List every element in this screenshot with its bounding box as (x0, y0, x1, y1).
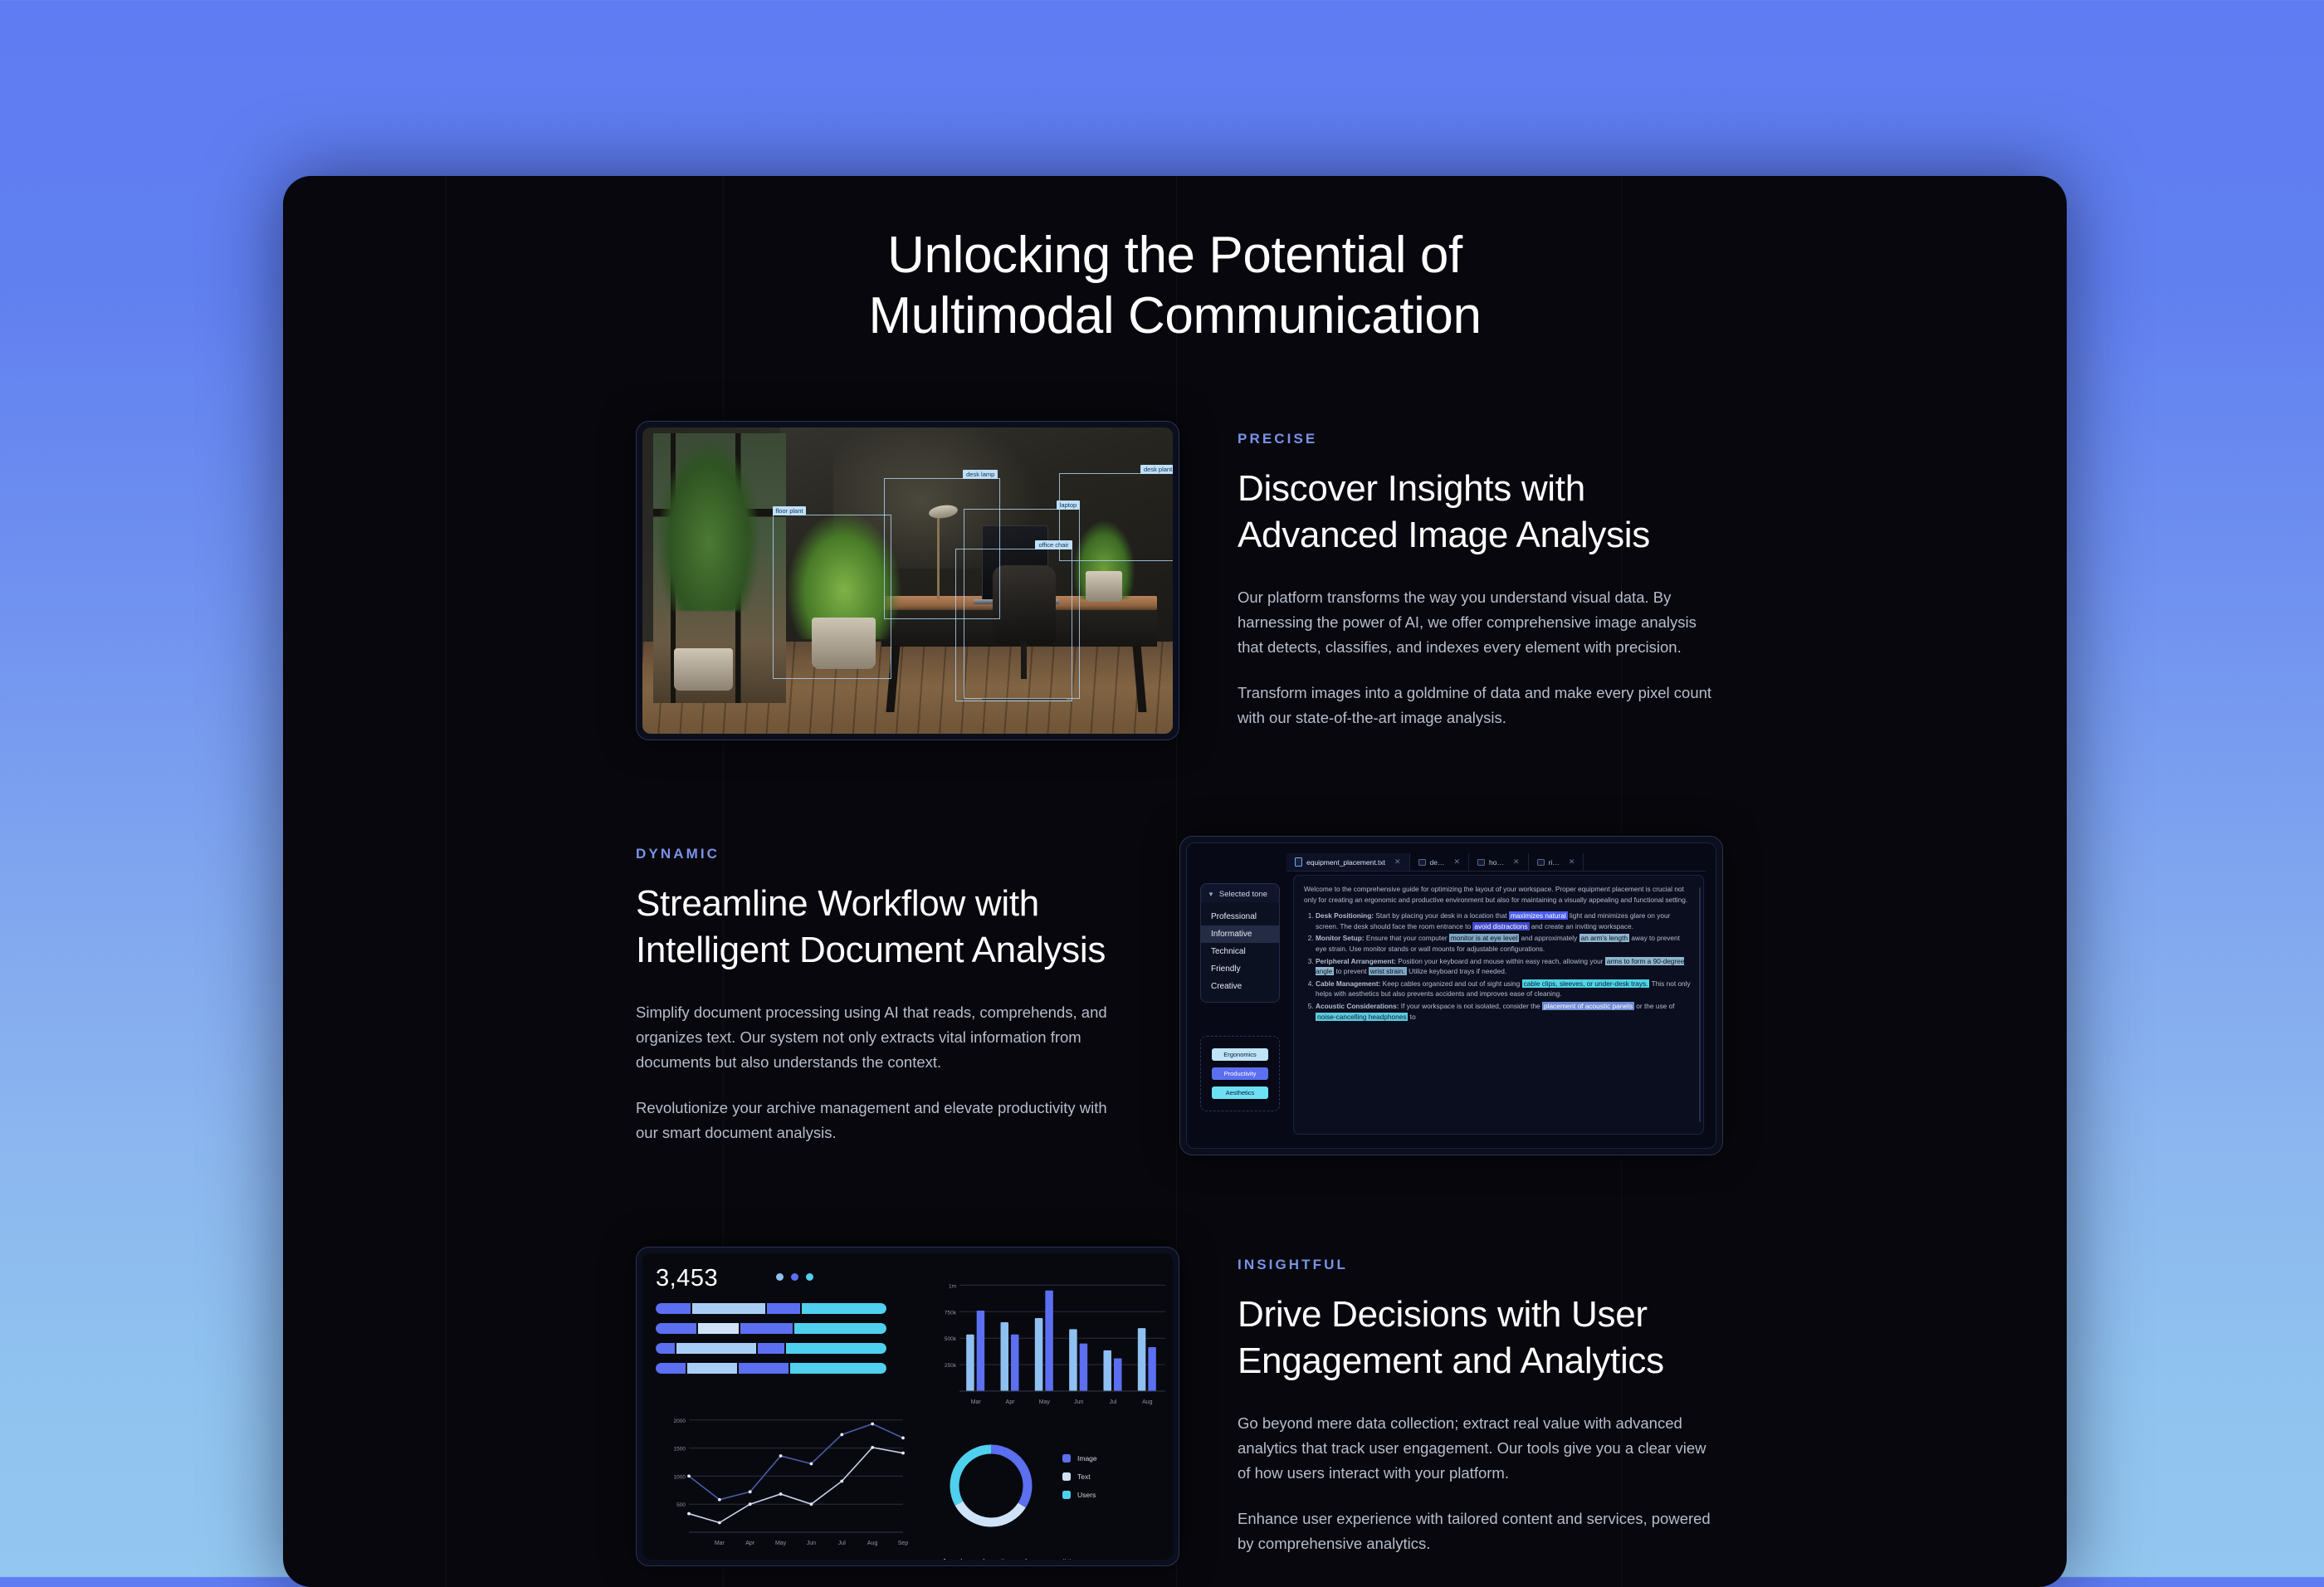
segmented-bar-row (656, 1343, 886, 1354)
legend-item-image: Image (1062, 1454, 1097, 1462)
svg-text:Sep: Sep (898, 1541, 909, 1546)
svg-text:Apr: Apr (745, 1541, 755, 1546)
feature-copy-analytics: INSIGHTFUL Drive Decisions with User Eng… (1238, 1257, 1723, 1556)
svg-text:May: May (1039, 1399, 1051, 1405)
svg-text:Jul: Jul (838, 1541, 846, 1546)
highlight: maximizes natural (1509, 911, 1568, 920)
chevron-down-icon: ▼ (1208, 891, 1214, 898)
page-title-line-1: Unlocking the Potential of (887, 227, 1462, 284)
svg-text:500k: 500k (945, 1336, 957, 1342)
paragraph-1: Go beyond mere data collection; extract … (1238, 1411, 1723, 1486)
item-title: Acoustic Considerations: (1316, 1002, 1399, 1010)
donut-chart: Image Text Users (938, 1431, 1170, 1560)
range-filter-group: 1 week 1 month 1year all time (943, 1558, 1081, 1560)
content-panel: Unlocking the Potential of Multimodal Co… (283, 176, 2067, 1587)
segmented-bar-row (656, 1323, 886, 1334)
bounding-box-floor-plant[interactable]: floor plant (773, 515, 892, 678)
svg-text:Jul: Jul (1110, 1399, 1117, 1405)
svg-text:500: 500 (676, 1502, 686, 1508)
bbox-label-desk-plant: desk plant (1140, 465, 1173, 474)
donut-legend: Image Text Users (1062, 1454, 1097, 1509)
close-icon[interactable]: ✕ (1513, 857, 1520, 867)
bounding-box-office-chair[interactable]: office chair (955, 549, 1072, 702)
scrollbar[interactable] (1699, 887, 1701, 1122)
page-title: Unlocking the Potential of Multimodal Co… (283, 226, 2067, 346)
image-icon (1477, 859, 1485, 866)
range-1-year[interactable]: 1year (1024, 1558, 1041, 1560)
bbox-label-desk-lamp: desk lamp (963, 470, 998, 479)
analytics-dashboard-preview[interactable]: 3,453 (636, 1247, 1179, 1566)
heading-line-2: Advanced Image Analysis (1238, 515, 1650, 555)
heading-line-1: Streamline Workflow with (636, 883, 1039, 924)
list-item: Cable Management: Keep cables organized … (1316, 979, 1692, 999)
close-icon[interactable]: ✕ (1454, 857, 1461, 867)
tone-option-list: Professional Informative Technical Frien… (1200, 902, 1280, 1003)
line-chart-svg: 500100015002000 MarAprMayJunJulAugSep (661, 1406, 910, 1560)
page-title-line-2: Multimodal Communication (868, 287, 1481, 344)
highlight: cable clips, sleeves, or under-desk tray… (1522, 979, 1650, 988)
document-intro: Welcome to the comprehensive guide for o… (1304, 884, 1692, 905)
range-all-time[interactable]: all time (1059, 1558, 1080, 1560)
legend-swatch (1062, 1472, 1071, 1481)
item-title: Monitor Setup: (1316, 934, 1365, 942)
svg-text:2000: 2000 (674, 1419, 686, 1424)
document-text-area[interactable]: Welcome to the comprehensive guide for o… (1293, 875, 1704, 1135)
document-editor-window: equipment_placement.txt ✕ de… ✕ ho… (1186, 842, 1716, 1149)
segmented-bar-list (656, 1303, 886, 1383)
eyebrow-dynamic: DYNAMIC (636, 846, 1121, 862)
svg-text:1000: 1000 (674, 1474, 686, 1480)
svg-text:250k: 250k (945, 1363, 957, 1369)
heading-line-2: Intelligent Document Analysis (636, 930, 1106, 970)
tab-label: equipment_placement.txt (1306, 858, 1385, 867)
heading-document-analysis: Streamline Workflow with Intelligent Doc… (636, 881, 1121, 974)
tab-label: ri… (1549, 858, 1560, 867)
svg-text:1500: 1500 (674, 1447, 686, 1453)
eyebrow-precise: PRECISE (1238, 431, 1723, 447)
paragraph-2: Enhance user experience with tailored co… (1238, 1506, 1723, 1556)
close-icon[interactable]: ✕ (1569, 857, 1575, 867)
legend-label: Users (1077, 1491, 1096, 1499)
paragraph-2: Revolutionize your archive management an… (636, 1096, 1121, 1145)
bbox-label-floor-plant: floor plant (773, 506, 807, 515)
donut-chart-svg (941, 1436, 1041, 1536)
editor-tab-bar: equipment_placement.txt ✕ de… ✕ ho… (1286, 853, 1706, 872)
svg-text:Mar: Mar (715, 1541, 725, 1546)
heading-image-analysis: Discover Insights with Advanced Image An… (1238, 466, 1723, 559)
highlight: an arm's length (1579, 934, 1629, 942)
bar-chart: 250k500k750k1m MarAprMayJunJulAug (930, 1268, 1169, 1418)
eyebrow-insightful: INSIGHTFUL (1238, 1257, 1723, 1273)
svg-text:Jun: Jun (807, 1541, 816, 1546)
heading-analytics: Drive Decisions with User Engagement and… (1238, 1292, 1723, 1385)
tag-ergonomics[interactable]: Ergonomics (1212, 1048, 1268, 1061)
tab-ho[interactable]: ho… ✕ (1469, 853, 1529, 871)
paragraph-1: Our platform transforms the way you unde… (1238, 585, 1723, 660)
close-icon[interactable]: ✕ (1394, 857, 1401, 867)
item-title: Desk Positioning: (1316, 911, 1374, 920)
legend-item-text: Text (1062, 1472, 1097, 1481)
item-title: Cable Management: (1316, 979, 1380, 988)
tag-productivity[interactable]: Productivity (1212, 1067, 1268, 1080)
legend-swatch (1062, 1454, 1071, 1462)
list-item: Monitor Setup: Ensure that your computer… (1316, 933, 1692, 954)
tab-label: de… (1430, 858, 1445, 867)
document-list: Desk Positioning: Start by placing your … (1316, 911, 1692, 1022)
tab-ri[interactable]: ri… ✕ (1529, 853, 1584, 871)
highlight: avoid distractions (1472, 922, 1529, 930)
paragraph-2: Transform images into a goldmine of data… (1238, 681, 1723, 730)
list-item: Acoustic Considerations: If your workspa… (1316, 1001, 1692, 1022)
feature-copy-document-analysis: DYNAMIC Streamline Workflow with Intelli… (636, 846, 1121, 1145)
feature-row-analytics: 3,453 (636, 1247, 1731, 1566)
svg-text:Mar: Mar (971, 1399, 982, 1405)
bbox-label-office-chair: office chair (1035, 540, 1072, 549)
svg-text:May: May (775, 1541, 787, 1546)
svg-text:750k: 750k (945, 1310, 957, 1316)
highlight: noise-cancelling headphones (1316, 1013, 1408, 1021)
svg-text:Aug: Aug (867, 1541, 878, 1546)
feature-copy-image-analysis: PRECISE Discover Insights with Advanced … (1238, 431, 1723, 730)
dot-3 (806, 1273, 813, 1281)
image-icon (1418, 859, 1426, 866)
file-icon (1295, 857, 1302, 867)
segmented-bar-row (656, 1303, 886, 1314)
tone-selector-label: Selected tone (1219, 890, 1267, 899)
status-dots (776, 1273, 813, 1281)
heading-line-1: Drive Decisions with User (1238, 1294, 1648, 1335)
heading-line-2: Engagement and Analytics (1238, 1340, 1664, 1381)
highlight: monitor is at eye level (1449, 934, 1519, 942)
analytics-dashboard: 3,453 (642, 1253, 1173, 1560)
list-item: Desk Positioning: Start by placing your … (1316, 911, 1692, 931)
highlight: wrist strain. (1369, 967, 1407, 975)
heading-line-1: Discover Insights with (1238, 468, 1585, 509)
item-title: Peripheral Arrangement: (1316, 957, 1396, 965)
bar-chart-svg: 250k500k750k1m MarAprMayJunJulAug (930, 1268, 1169, 1418)
bounding-box-desk-plant[interactable]: desk plant (1059, 473, 1173, 560)
legend-label: Image (1077, 1454, 1097, 1462)
tag-group: Ergonomics Productivity Aesthetics (1200, 1036, 1280, 1111)
svg-text:Jun: Jun (1074, 1399, 1083, 1405)
legend-swatch (1062, 1491, 1071, 1499)
svg-text:Apr: Apr (1006, 1399, 1016, 1405)
line-chart: 500100015002000 MarAprMayJunJulAugSep (661, 1406, 910, 1560)
image-analysis-preview[interactable]: floor plant desk lamp laptop desk plant … (636, 421, 1179, 740)
tone-option-professional[interactable]: Professional (1201, 908, 1279, 925)
range-1-week[interactable]: 1 week (943, 1558, 964, 1560)
feature-row-image-analysis: floor plant desk lamp laptop desk plant … (636, 421, 1731, 740)
tone-option-informative[interactable]: Informative (1201, 925, 1279, 943)
segmented-bar-row (656, 1363, 886, 1374)
legend-item-users: Users (1062, 1491, 1097, 1499)
paragraph-1: Simplify document processing using AI th… (636, 1000, 1121, 1075)
tone-option-friendly[interactable]: Friendly (1201, 960, 1279, 978)
tab-equipment-placement[interactable]: equipment_placement.txt ✕ (1286, 853, 1410, 871)
list-item: Peripheral Arrangement: Position your ke… (1316, 956, 1692, 977)
svg-text:Aug: Aug (1142, 1399, 1153, 1405)
dot-1 (776, 1273, 784, 1281)
tab-label: ho… (1489, 858, 1504, 867)
tone-option-technical[interactable]: Technical (1201, 943, 1279, 960)
highlight: placement of acoustic panels (1542, 1002, 1634, 1010)
legend-label: Text (1077, 1472, 1091, 1481)
document-analysis-preview[interactable]: equipment_placement.txt ✕ de… ✕ ho… (1179, 836, 1723, 1155)
tone-option-creative[interactable]: Creative (1201, 978, 1279, 995)
tab-de[interactable]: de… ✕ (1410, 853, 1470, 871)
tag-aesthetics[interactable]: Aesthetics (1212, 1086, 1268, 1099)
feature-row-document-analysis: DYNAMIC Streamline Workflow with Intelli… (636, 836, 1731, 1155)
image-icon (1537, 859, 1545, 866)
tone-selector[interactable]: ▼ Selected tone Professional Informative… (1200, 883, 1280, 1003)
dot-2 (791, 1273, 798, 1281)
range-1-month[interactable]: 1 month (982, 1558, 1006, 1560)
svg-text:1m: 1m (949, 1283, 956, 1289)
